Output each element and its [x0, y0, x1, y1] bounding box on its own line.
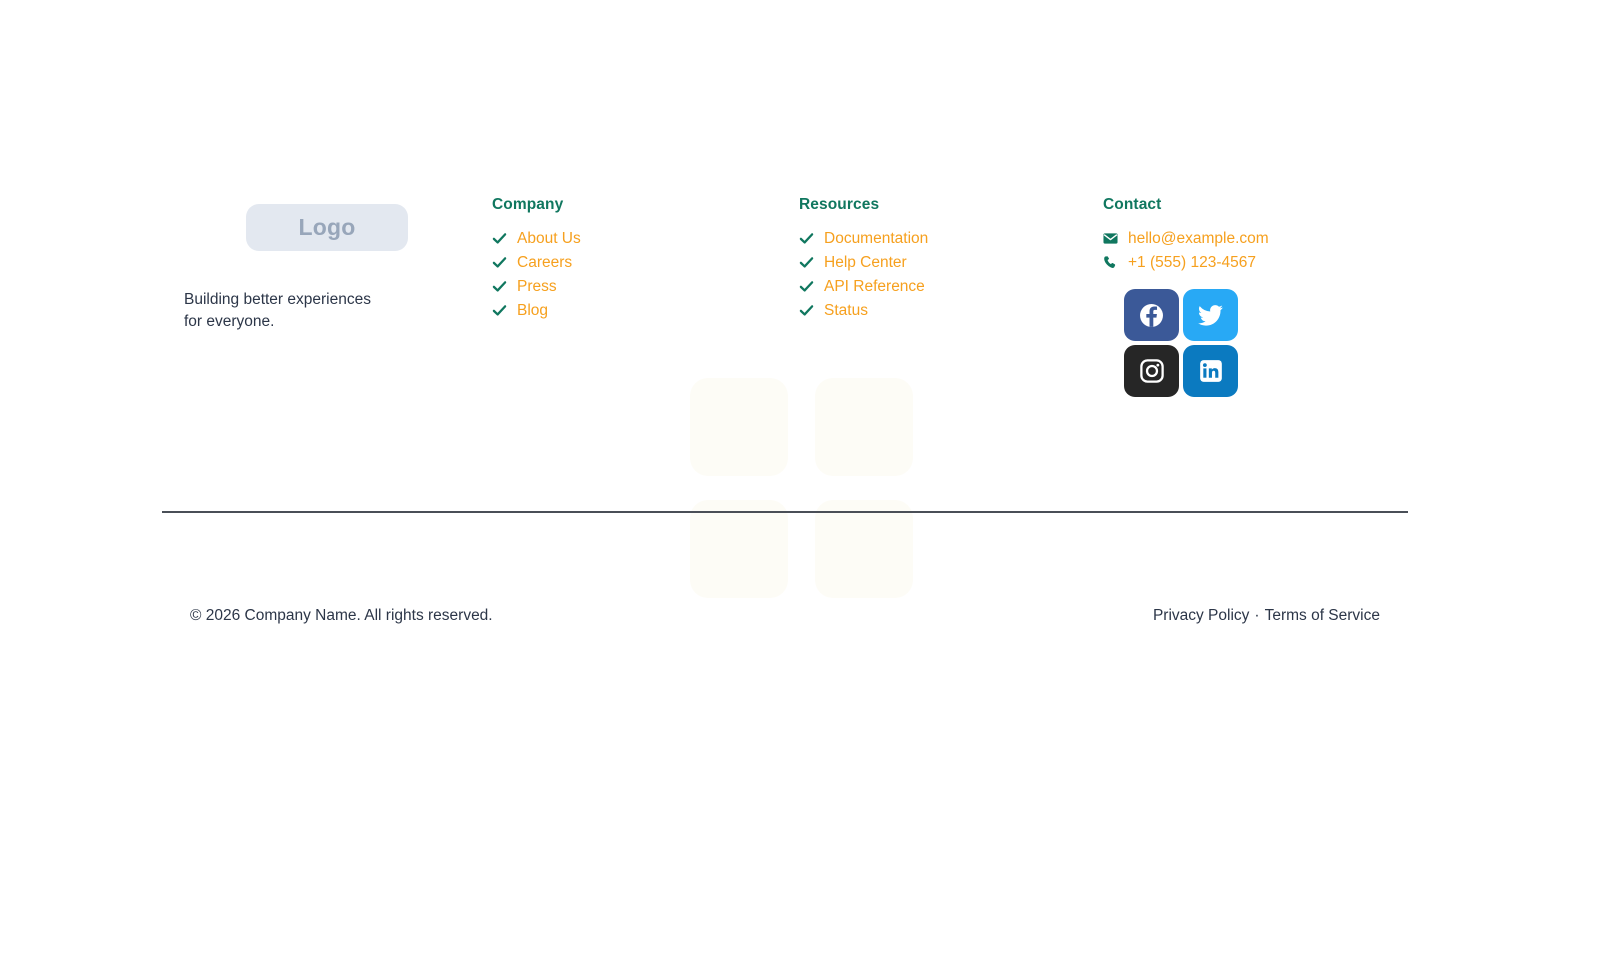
logo-label: Logo — [299, 214, 356, 241]
link-press[interactable]: Press — [517, 278, 557, 296]
link-documentation[interactable]: Documentation — [824, 230, 928, 248]
company-heading: Company — [492, 196, 799, 214]
logo-placeholder[interactable]: Logo — [246, 204, 408, 251]
legal-links: Privacy Policy · Terms of Service — [1153, 607, 1380, 625]
decorative-square — [815, 500, 913, 598]
social-link-facebook[interactable] — [1124, 289, 1179, 341]
tagline-line-2: for everyone. — [184, 311, 492, 333]
company-column: Company About Us Careers — [492, 196, 799, 324]
contact-email-link[interactable]: hello@example.com — [1128, 230, 1269, 248]
link-help-center[interactable]: Help Center — [824, 254, 907, 272]
footer-columns: Logo Building better experiences for eve… — [162, 196, 1408, 397]
envelope-icon — [1103, 231, 1118, 246]
brand-column: Logo Building better experiences for eve… — [162, 196, 492, 334]
company-link-list: About Us Careers Press — [492, 228, 799, 321]
check-icon — [492, 255, 507, 270]
list-item[interactable]: hello@example.com — [1103, 228, 1408, 249]
link-terms-of-service[interactable]: Terms of Service — [1265, 607, 1380, 625]
list-item[interactable]: API Reference — [799, 276, 1103, 297]
check-icon — [799, 279, 814, 294]
phone-icon — [1103, 255, 1118, 270]
twitter-icon — [1197, 302, 1224, 329]
list-item[interactable]: +1 (555) 123-4567 — [1103, 252, 1408, 273]
site-footer: Logo Building better experiences for eve… — [162, 196, 1408, 397]
list-item[interactable]: Documentation — [799, 228, 1103, 249]
brand-tagline: Building better experiences for everyone… — [162, 289, 492, 334]
linkedin-icon — [1198, 358, 1224, 384]
list-item[interactable]: Blog — [492, 300, 799, 321]
check-icon — [492, 279, 507, 294]
social-link-twitter[interactable] — [1183, 289, 1238, 341]
resources-link-list: Documentation Help Center API Reference — [799, 228, 1103, 321]
link-privacy-policy[interactable]: Privacy Policy — [1153, 607, 1249, 625]
list-item[interactable]: Press — [492, 276, 799, 297]
list-item[interactable]: Careers — [492, 252, 799, 273]
resources-column: Resources Documentation Help Center — [799, 196, 1103, 324]
tagline-line-1: Building better experiences — [184, 289, 492, 311]
check-icon — [799, 231, 814, 246]
check-icon — [799, 303, 814, 318]
link-blog[interactable]: Blog — [517, 302, 548, 320]
decorative-squares-group — [690, 378, 915, 598]
footer-divider — [162, 511, 1408, 513]
facebook-icon — [1138, 302, 1165, 329]
social-link-instagram[interactable] — [1124, 345, 1179, 397]
list-item[interactable]: Help Center — [799, 252, 1103, 273]
resources-heading: Resources — [799, 196, 1103, 214]
decorative-square — [690, 500, 788, 598]
list-item[interactable]: About Us — [492, 228, 799, 249]
list-item[interactable]: Status — [799, 300, 1103, 321]
contact-heading: Contact — [1103, 196, 1408, 214]
footer-bottom-bar: © 2026 Company Name. All rights reserved… — [190, 607, 1380, 625]
check-icon — [799, 255, 814, 270]
page-root: Logo Building better experiences for eve… — [0, 0, 1600, 978]
social-link-linkedin[interactable] — [1183, 345, 1238, 397]
contact-list: hello@example.com +1 (555) 123-4567 — [1103, 228, 1408, 273]
copyright-text: © 2026 Company Name. All rights reserved… — [190, 607, 493, 625]
legal-separator: · — [1254, 607, 1259, 625]
link-status[interactable]: Status — [824, 302, 868, 320]
contact-column: Contact hello@example.com +1 (555) 123-4… — [1103, 196, 1408, 397]
link-about-us[interactable]: About Us — [517, 230, 581, 248]
social-links-group — [1124, 289, 1284, 397]
check-icon — [492, 231, 507, 246]
check-icon — [492, 303, 507, 318]
link-careers[interactable]: Careers — [517, 254, 572, 272]
contact-phone-link[interactable]: +1 (555) 123-4567 — [1128, 254, 1256, 272]
link-api-reference[interactable]: API Reference — [824, 278, 925, 296]
instagram-icon — [1139, 358, 1165, 384]
